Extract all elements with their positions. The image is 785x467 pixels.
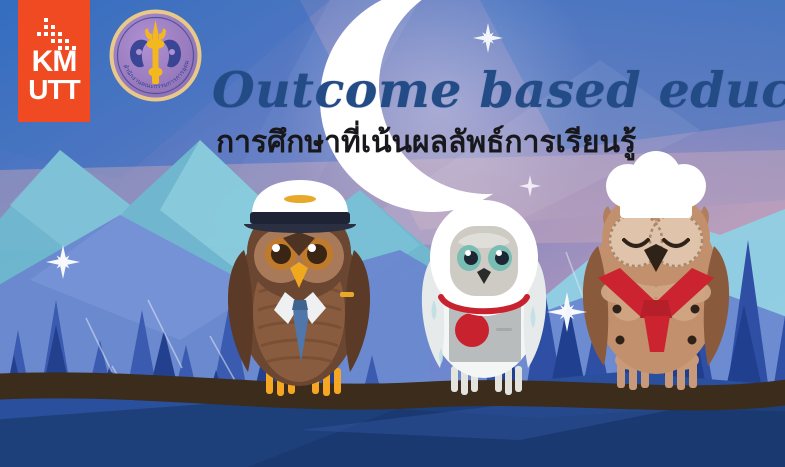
pilot-owl-tie-knot	[292, 300, 308, 310]
chef-owl-scarf-knot	[640, 300, 672, 318]
pilot-owl-hat-insignia	[284, 195, 316, 203]
kmutt-logo: KM UTT	[18, 0, 90, 122]
pilot-owl-badge	[340, 292, 354, 297]
astronaut-owl-eye-shine-right	[496, 250, 502, 256]
page-title: Outcome based education	[212, 64, 752, 116]
royal-trident-seal-icon: สำนักงานคณะกรรมการการอุดมศึกษา	[108, 8, 203, 103]
page-subtitle: การศึกษาที่เน้นผลลัพธ์การเรียนรู้	[216, 126, 736, 160]
pilot-owl-eye-shine-left	[272, 244, 280, 252]
kmutt-logo-text: KM UTT	[18, 48, 90, 104]
kmutt-logo-line2: UTT	[18, 76, 90, 104]
pilot-owl-hat-band	[250, 212, 350, 224]
poster-canvas: KM UTT สำนัก	[0, 0, 785, 467]
astronaut-owl-eye-shine-left	[465, 250, 471, 256]
astronaut-owl-badge	[455, 313, 489, 347]
astronaut-owl-panel-line	[496, 328, 512, 331]
pilot-owl-eye-shine-right	[308, 244, 316, 252]
kmutt-logo-line1: KM	[18, 48, 90, 76]
